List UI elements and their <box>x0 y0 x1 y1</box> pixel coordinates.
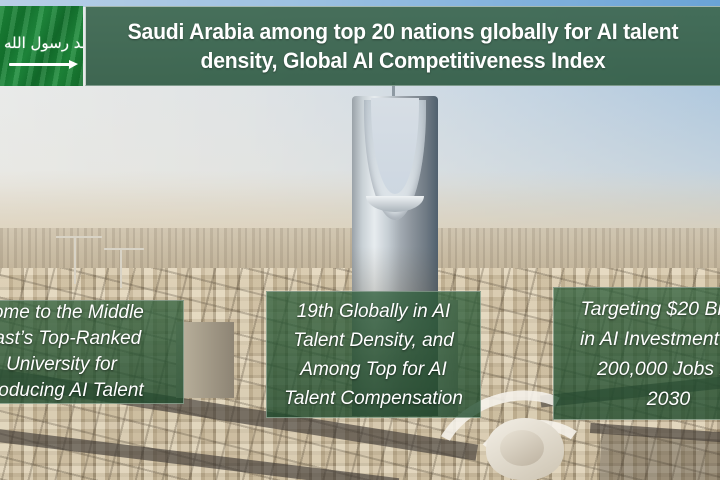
mall-dome-inner <box>500 430 544 466</box>
plaza-area <box>599 433 720 480</box>
callout-line: Among Top for AI <box>284 355 463 384</box>
callout-line: Talent Density, and <box>284 326 463 355</box>
callout-line: Producing AI Talent <box>0 378 144 404</box>
construction-crane <box>74 236 76 284</box>
headline-banner: Saudi Arabia among top 20 nations global… <box>85 6 720 86</box>
construction-crane <box>56 236 102 238</box>
low-rise-building <box>176 322 234 398</box>
callout-line: 200,000 Jobs by <box>580 354 720 384</box>
flag-sword-icon <box>9 63 71 66</box>
callout-top-ranked-university: Home to the Middle East’s Top-Ranked Uni… <box>0 300 184 404</box>
callout-line: University for <box>0 352 144 378</box>
callout-text: Targeting $20 Billion in AI Investment a… <box>580 294 720 414</box>
construction-crane <box>120 248 122 288</box>
title-line-2: density, Global AI Competitiveness Index <box>128 46 679 75</box>
page-title: Saudi Arabia among top 20 nations global… <box>122 17 684 75</box>
callout-line: in AI Investment and <box>580 324 720 354</box>
infographic-card: لا إله إلا الله محمد رسول الله Saudi Ara… <box>0 0 720 480</box>
callout-talent-density-rank: 19th Globally in AI Talent Density, and … <box>266 291 481 418</box>
callout-line: 19th Globally in AI <box>284 297 463 326</box>
callout-line: Home to the Middle <box>0 300 144 326</box>
saudi-arabia-flag-icon: لا إله إلا الله محمد رسول الله <box>0 6 83 86</box>
callout-line: 2030 <box>580 384 720 414</box>
callout-line: East’s Top-Ranked <box>0 326 144 352</box>
callout-line: Targeting $20 Billion <box>580 294 720 324</box>
flag-shahada-text: لا إله إلا الله محمد رسول الله <box>4 32 82 54</box>
callout-line: Talent Compensation <box>284 384 463 413</box>
callout-text: Home to the Middle East’s Top-Ranked Uni… <box>0 300 144 404</box>
callout-text: 19th Globally in AI Talent Density, and … <box>284 297 463 413</box>
callout-investment-target: Targeting $20 Billion in AI Investment a… <box>553 287 720 420</box>
construction-crane <box>104 248 144 250</box>
title-line-1: Saudi Arabia among top 20 nations global… <box>128 17 679 46</box>
